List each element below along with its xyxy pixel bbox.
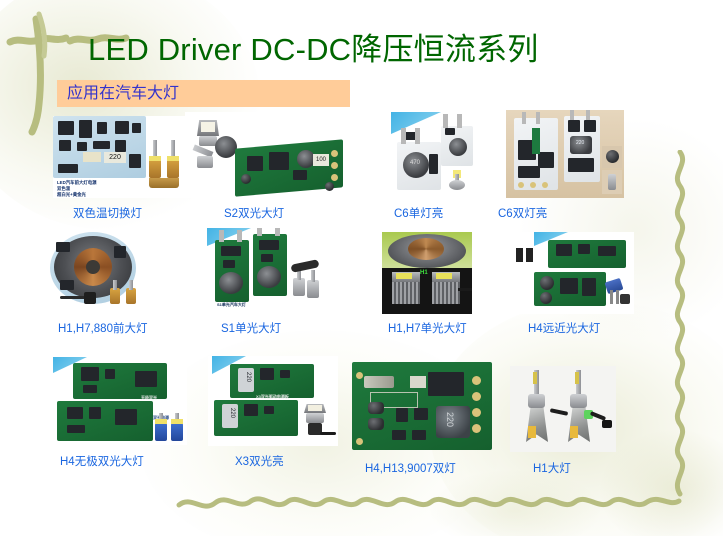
product-photo: 220: [352, 362, 492, 450]
product-caption: H4远近光大灯: [528, 322, 600, 336]
product-caption: X3双光亮: [235, 455, 284, 469]
product-caption: H1大灯: [533, 462, 571, 476]
background-wash: [430, 470, 600, 536]
product-caption: H1,H7单光大灯: [388, 322, 467, 336]
photo-overlay-line: 超白光+黄金光: [57, 192, 86, 198]
product-photo: 220: [506, 110, 624, 198]
product-photo: 220 LED汽车前大灯电源 双色温 超白光+黄金光: [53, 116, 188, 198]
section-subtitle-bar: 应用在汽车大灯: [57, 80, 350, 107]
product-caption: C6双灯亮: [498, 207, 547, 221]
product-photo: 100: [185, 112, 345, 198]
product-caption: H4无极双光大灯: [60, 455, 144, 469]
product-photo: 220 220 X3双光驱动电源板: [208, 356, 338, 446]
photo-overlay-line: S1单光汽车大灯: [217, 302, 246, 308]
photo-overlay-line: 无极双光: [141, 395, 157, 401]
board-marking: 220: [104, 152, 126, 163]
board-marking: 100: [313, 154, 329, 166]
bamboo-horizontal-ornament-icon: [175, 485, 685, 519]
product-photo: [512, 232, 634, 314]
product-caption: S2双光大灯: [224, 207, 284, 221]
product-photo: [510, 366, 616, 452]
product-caption: H4,H13,9007双灯: [365, 462, 456, 476]
board-marking: 220: [444, 412, 455, 427]
product-photo: [50, 232, 168, 312]
section-subtitle-text: 应用在汽车大灯: [67, 84, 179, 104]
product-photo: H1: [382, 232, 472, 314]
product-photo: S1单光汽车大灯: [207, 228, 327, 312]
background-wash: [600, 430, 723, 536]
photo-overlay-line: H1: [420, 270, 428, 276]
page-title: LED Driver DC-DC降压恒流系列: [88, 31, 538, 69]
presentation-slide: LED Driver DC-DC降压恒流系列 应用在汽车大灯 220 LED汽车…: [0, 0, 723, 536]
product-photo: 470: [391, 112, 483, 200]
product-caption: 双色温切换灯: [73, 207, 142, 221]
photo-overlay-line: X3双光驱动电源板: [256, 394, 289, 400]
product-caption: S1单光大灯: [221, 322, 281, 336]
board-marking: 220: [240, 372, 252, 388]
product-caption: C6单灯亮: [394, 207, 443, 221]
product-photo: 无极双光 双光电源: [53, 357, 187, 445]
bamboo-vertical-ornament-icon: [662, 150, 702, 500]
product-caption: H1,H7,880前大灯: [58, 322, 147, 336]
